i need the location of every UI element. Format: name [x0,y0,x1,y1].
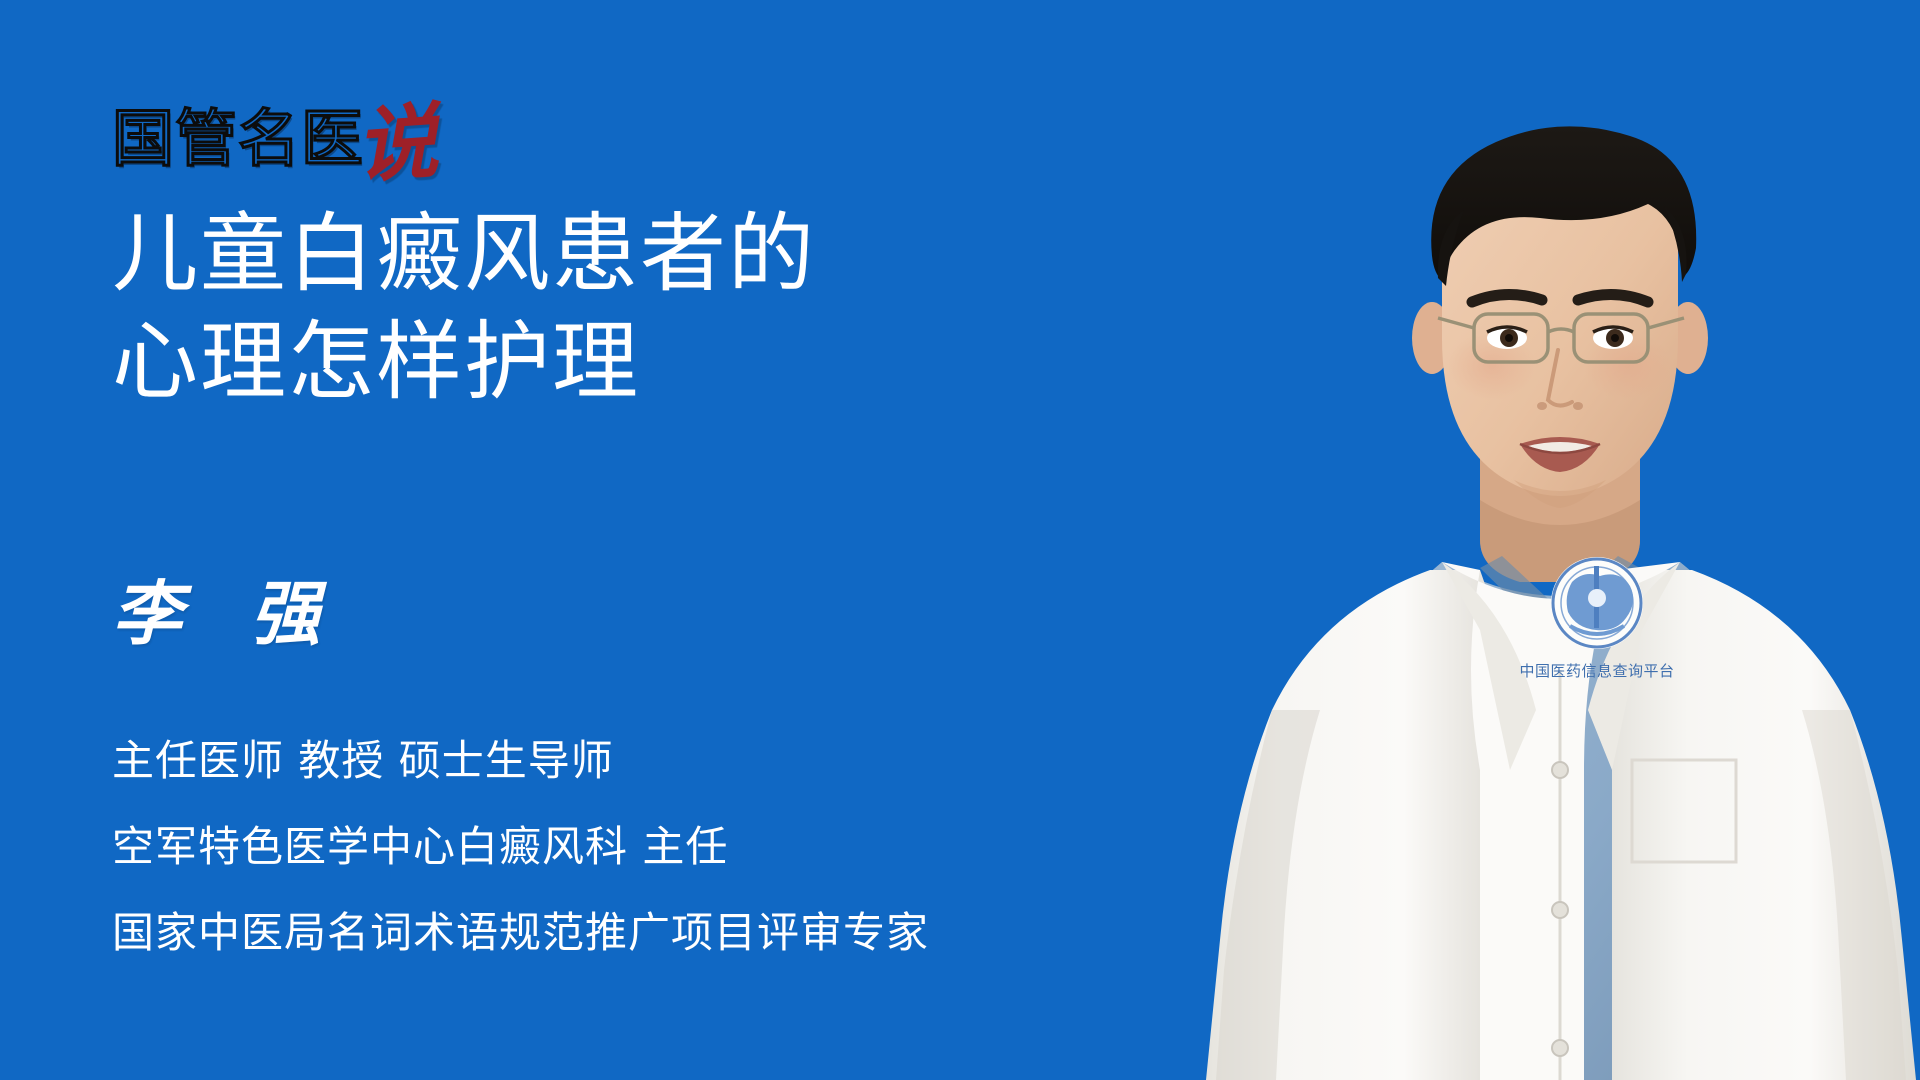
program-logo: 国管名医 说 [112,82,440,170]
doctor-name: 李 强 [112,572,342,656]
program-logo-accent-text: 说 [353,108,439,180]
video-cover-slide: 国管名医 说 儿童白癜风患者的 心理怎样护理 李 强 主任医师 教授 硕士生导师… [0,0,1920,1080]
title-line-1: 儿童白癜风患者的 [112,200,1012,308]
program-logo-main-text: 国管名医 [112,108,364,170]
coat-badge-emblem [1551,557,1643,649]
credential-line-3: 国家中医局名词术语规范推广项目评审专家 [112,890,1072,976]
credential-line-1: 主任医师 教授 硕士生导师 [112,718,1072,804]
title-block: 儿童白癜风患者的 心理怎样护理 [112,200,1012,416]
badge-text: 中国医药信息查询平台 [1519,662,1674,680]
credential-line-2: 空军特色医学中心白癜风科 主任 [112,804,1072,890]
doctor-portrait: 中国医药信息查询平台 [1180,70,1920,1080]
doctor-credentials: 主任医师 教授 硕士生导师 空军特色医学中心白癜风科 主任 国家中医局名词术语规… [112,718,1072,976]
title-line-2: 心理怎样护理 [112,308,1012,416]
